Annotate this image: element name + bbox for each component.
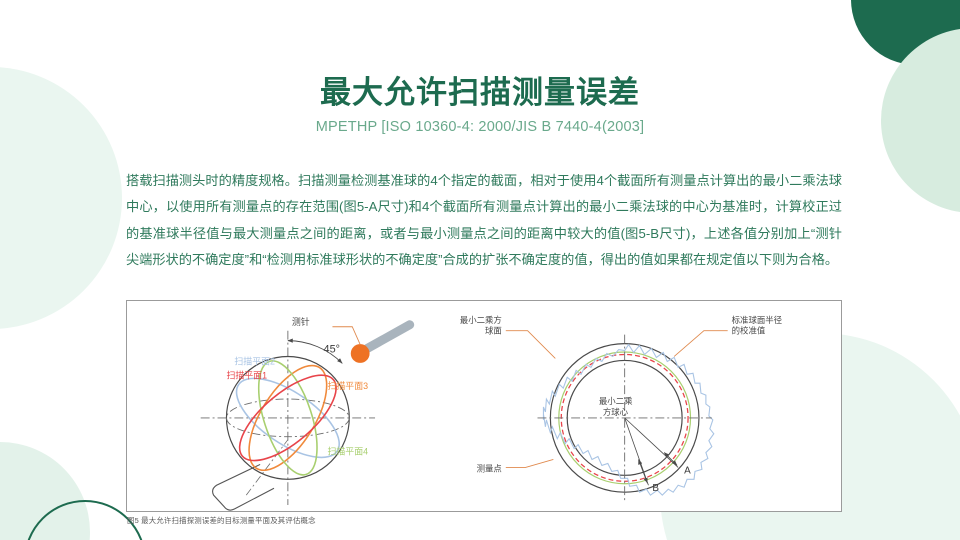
figure-panel: 测针 45° 扫描平面1 扫描平面2 扫描平面3 扫描平面4 (126, 300, 842, 512)
lsq-surface-leader (506, 331, 556, 359)
lsq-center-label-line2: 方球心 (603, 407, 629, 417)
right-diagram-group: 最小二乘方 球面 标准球面半径 的校准值 最小二乘 方球心 测量点 A B (460, 315, 783, 501)
dimension-a-leader (625, 418, 678, 468)
calibrated-radius-label-line1: 标准球面半径 (732, 315, 783, 325)
lsq-center-label-line1: 最小二乘 (599, 396, 633, 406)
lsq-surface-label-line1: 最小二乘方 (460, 315, 502, 325)
page-title: 最大允许扫描测量误差 (0, 74, 960, 113)
lsq-surface-label-line2: 球面 (485, 326, 502, 336)
slide-header: 最大允许扫描测量误差 MPETHP [ISO 10360-4: 2000/JIS… (0, 74, 960, 135)
angle-label: 45° (324, 344, 340, 356)
scan-plane-3-label: 扫描平面3 (327, 380, 368, 391)
stylus-label: 测针 (292, 316, 310, 327)
measurement-points-leader (506, 459, 554, 467)
body-paragraph: 搭载扫描测头时的精度规格。扫描测量检测基准球的4个指定的截面，相对于使用4个截面… (126, 168, 842, 274)
scan-plane-4-label: 扫描平面4 (327, 446, 368, 457)
left-diagram-group: 测针 45° 扫描平面1 扫描平面2 扫描平面3 扫描平面4 (201, 316, 410, 510)
calibrated-radius-leader (674, 331, 727, 357)
page-subtitle: MPETHP [ISO 10360-4: 2000/JIS B 7440-4(2… (0, 119, 960, 135)
sphere-holder-shape (213, 464, 274, 510)
decorative-circle-top-right-dark (851, 0, 960, 65)
body-text-block: 搭载扫描测头时的精度规格。扫描测量检测基准球的4个指定的截面，相对于使用4个截面… (126, 168, 842, 274)
dimension-b-label: B (652, 483, 659, 494)
scan-plane-1-label: 扫描平面1 (226, 369, 267, 380)
slide-canvas: 最大允许扫描测量误差 MPETHP [ISO 10360-4: 2000/JIS… (0, 0, 960, 540)
figure-illustration: 测针 45° 扫描平面1 扫描平面2 扫描平面3 扫描平面4 (127, 301, 841, 511)
calibrated-radius-label-line2: 的校准值 (732, 326, 766, 336)
decorative-circle-bottom-left (0, 442, 90, 540)
scan-plane-2-label: 扫描平面2 (234, 355, 275, 366)
figure-caption: 图5 最大允许扫描探测误差的目标测量平面及其评估概念 (127, 515, 316, 526)
stylus-leader-line (332, 327, 360, 345)
dimension-a-label: A (684, 465, 691, 476)
measurement-points-label: 测量点 (477, 463, 502, 473)
